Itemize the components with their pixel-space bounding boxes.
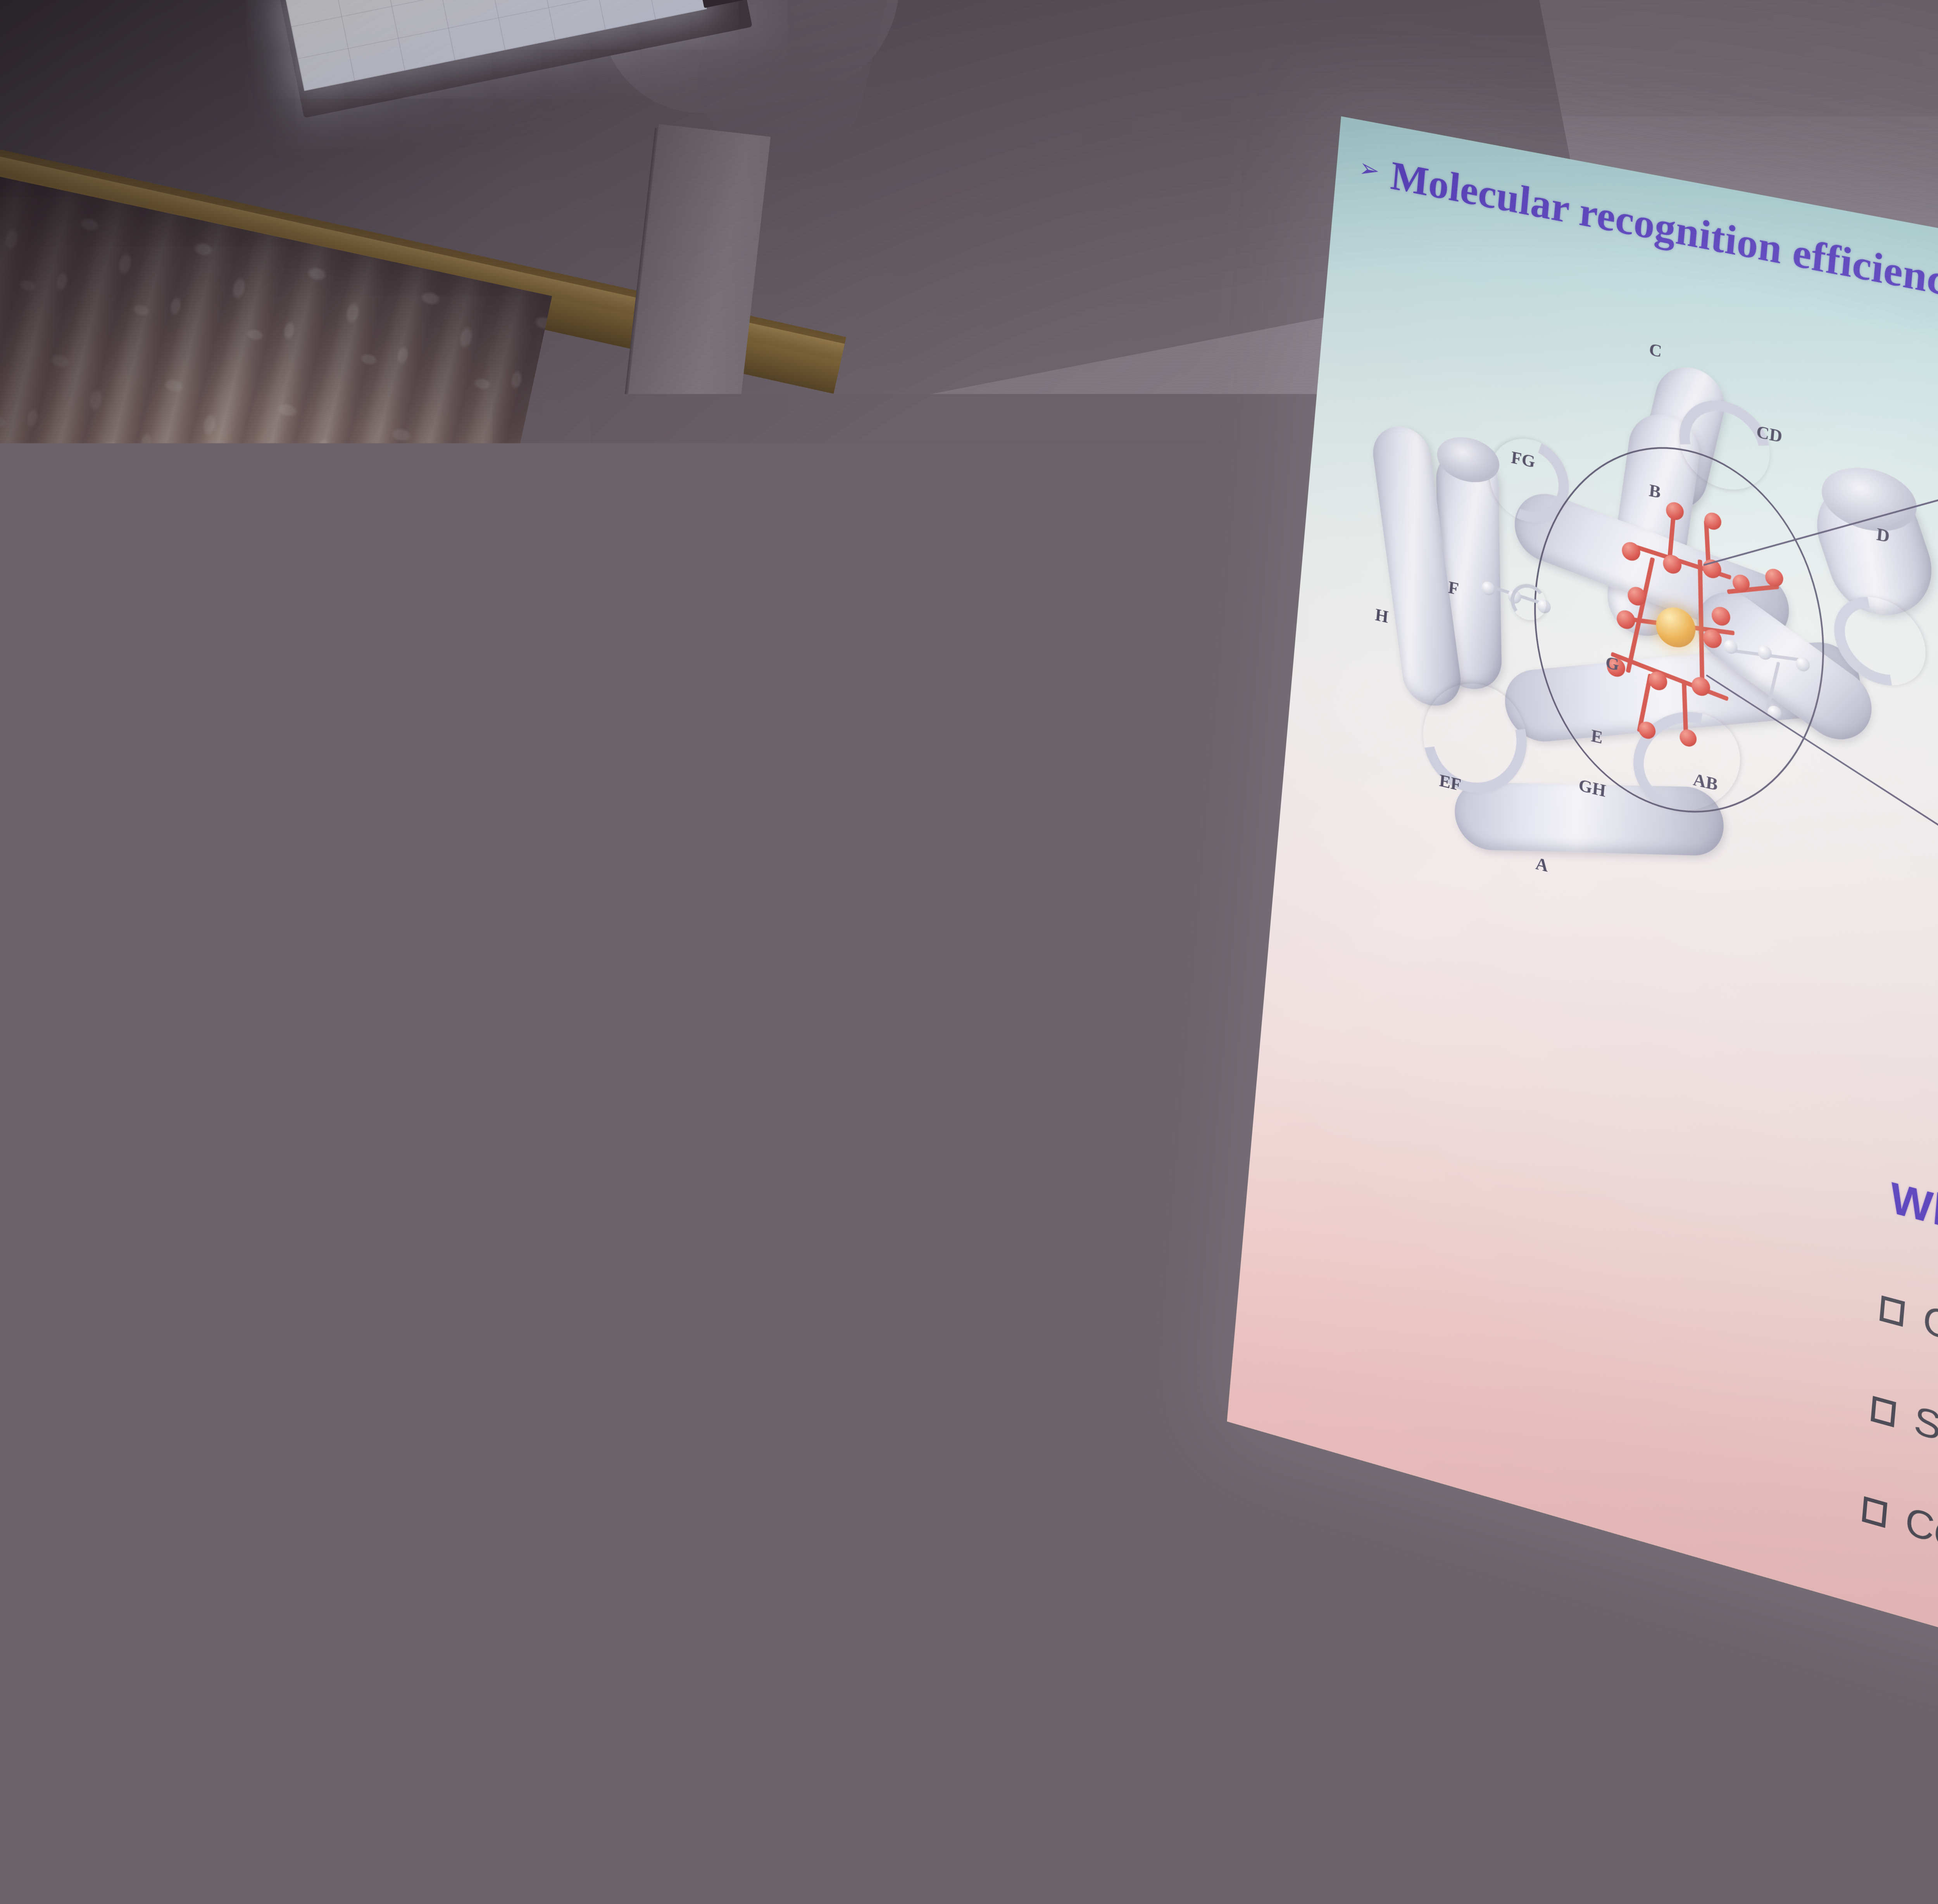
heme-bond [1698, 559, 1704, 681]
outlet-slot [876, 1501, 881, 1510]
outlet-slot [878, 1475, 883, 1483]
heme-atom [1616, 609, 1636, 631]
outlet-slot [891, 1475, 895, 1484]
label-helix-E: E [1590, 725, 1604, 748]
checkbox-bullet-icon [1871, 1396, 1896, 1427]
outlet-slot [931, 1483, 936, 1492]
wall-junction-box [727, 1399, 766, 1467]
wall-power-outlet[interactable] [866, 1460, 910, 1528]
label-helix-A: A [1535, 853, 1549, 876]
wall-power-outlet[interactable] [907, 1468, 951, 1536]
checkbox-bullet-icon [1879, 1295, 1905, 1327]
label-helix-F: F [1447, 577, 1459, 599]
label-helix-D: D [1876, 524, 1890, 547]
outlet-slot [929, 1509, 934, 1518]
heme-atom [1662, 553, 1683, 575]
eyeglass-lens-right [403, 883, 447, 913]
shirt-button [353, 1140, 362, 1149]
outlet-slot [889, 1502, 893, 1511]
outlet-slot [919, 1482, 923, 1491]
hair-tuft [367, 790, 462, 858]
heme-atom [1638, 720, 1656, 740]
heme-atom [1679, 728, 1697, 748]
heme-atom [1665, 500, 1684, 522]
heme-atom [1621, 540, 1641, 562]
heme-atom [1691, 675, 1711, 698]
shirt-button [353, 1302, 362, 1312]
heme-atom [1711, 605, 1731, 628]
label-helix-H: H [1374, 604, 1389, 627]
shirt-button [353, 1221, 362, 1230]
arrow-bullet-icon: ➢ [1358, 155, 1381, 184]
label-helix-B: B [1648, 480, 1662, 503]
myoglobin-ribbon-diagram: C CD D FG B F H G E AB GH EF A [1354, 296, 1938, 1142]
eyeglass-lens-left [348, 890, 391, 920]
outlet-slot [917, 1509, 921, 1518]
shirt-button [353, 1465, 362, 1475]
checkbox-bullet-icon [1862, 1496, 1888, 1528]
heme-bond [1610, 652, 1729, 701]
list-item-label: Cooperativity [1921, 1297, 1938, 1406]
label-helix-C: C [1648, 339, 1663, 362]
room-scene: ➢ Molecular recognition efficiency and s… [0, 0, 1938, 1904]
iron-atom [1654, 604, 1697, 651]
eyeglass-bridge [390, 897, 405, 901]
label-helix-G: G [1605, 652, 1620, 675]
